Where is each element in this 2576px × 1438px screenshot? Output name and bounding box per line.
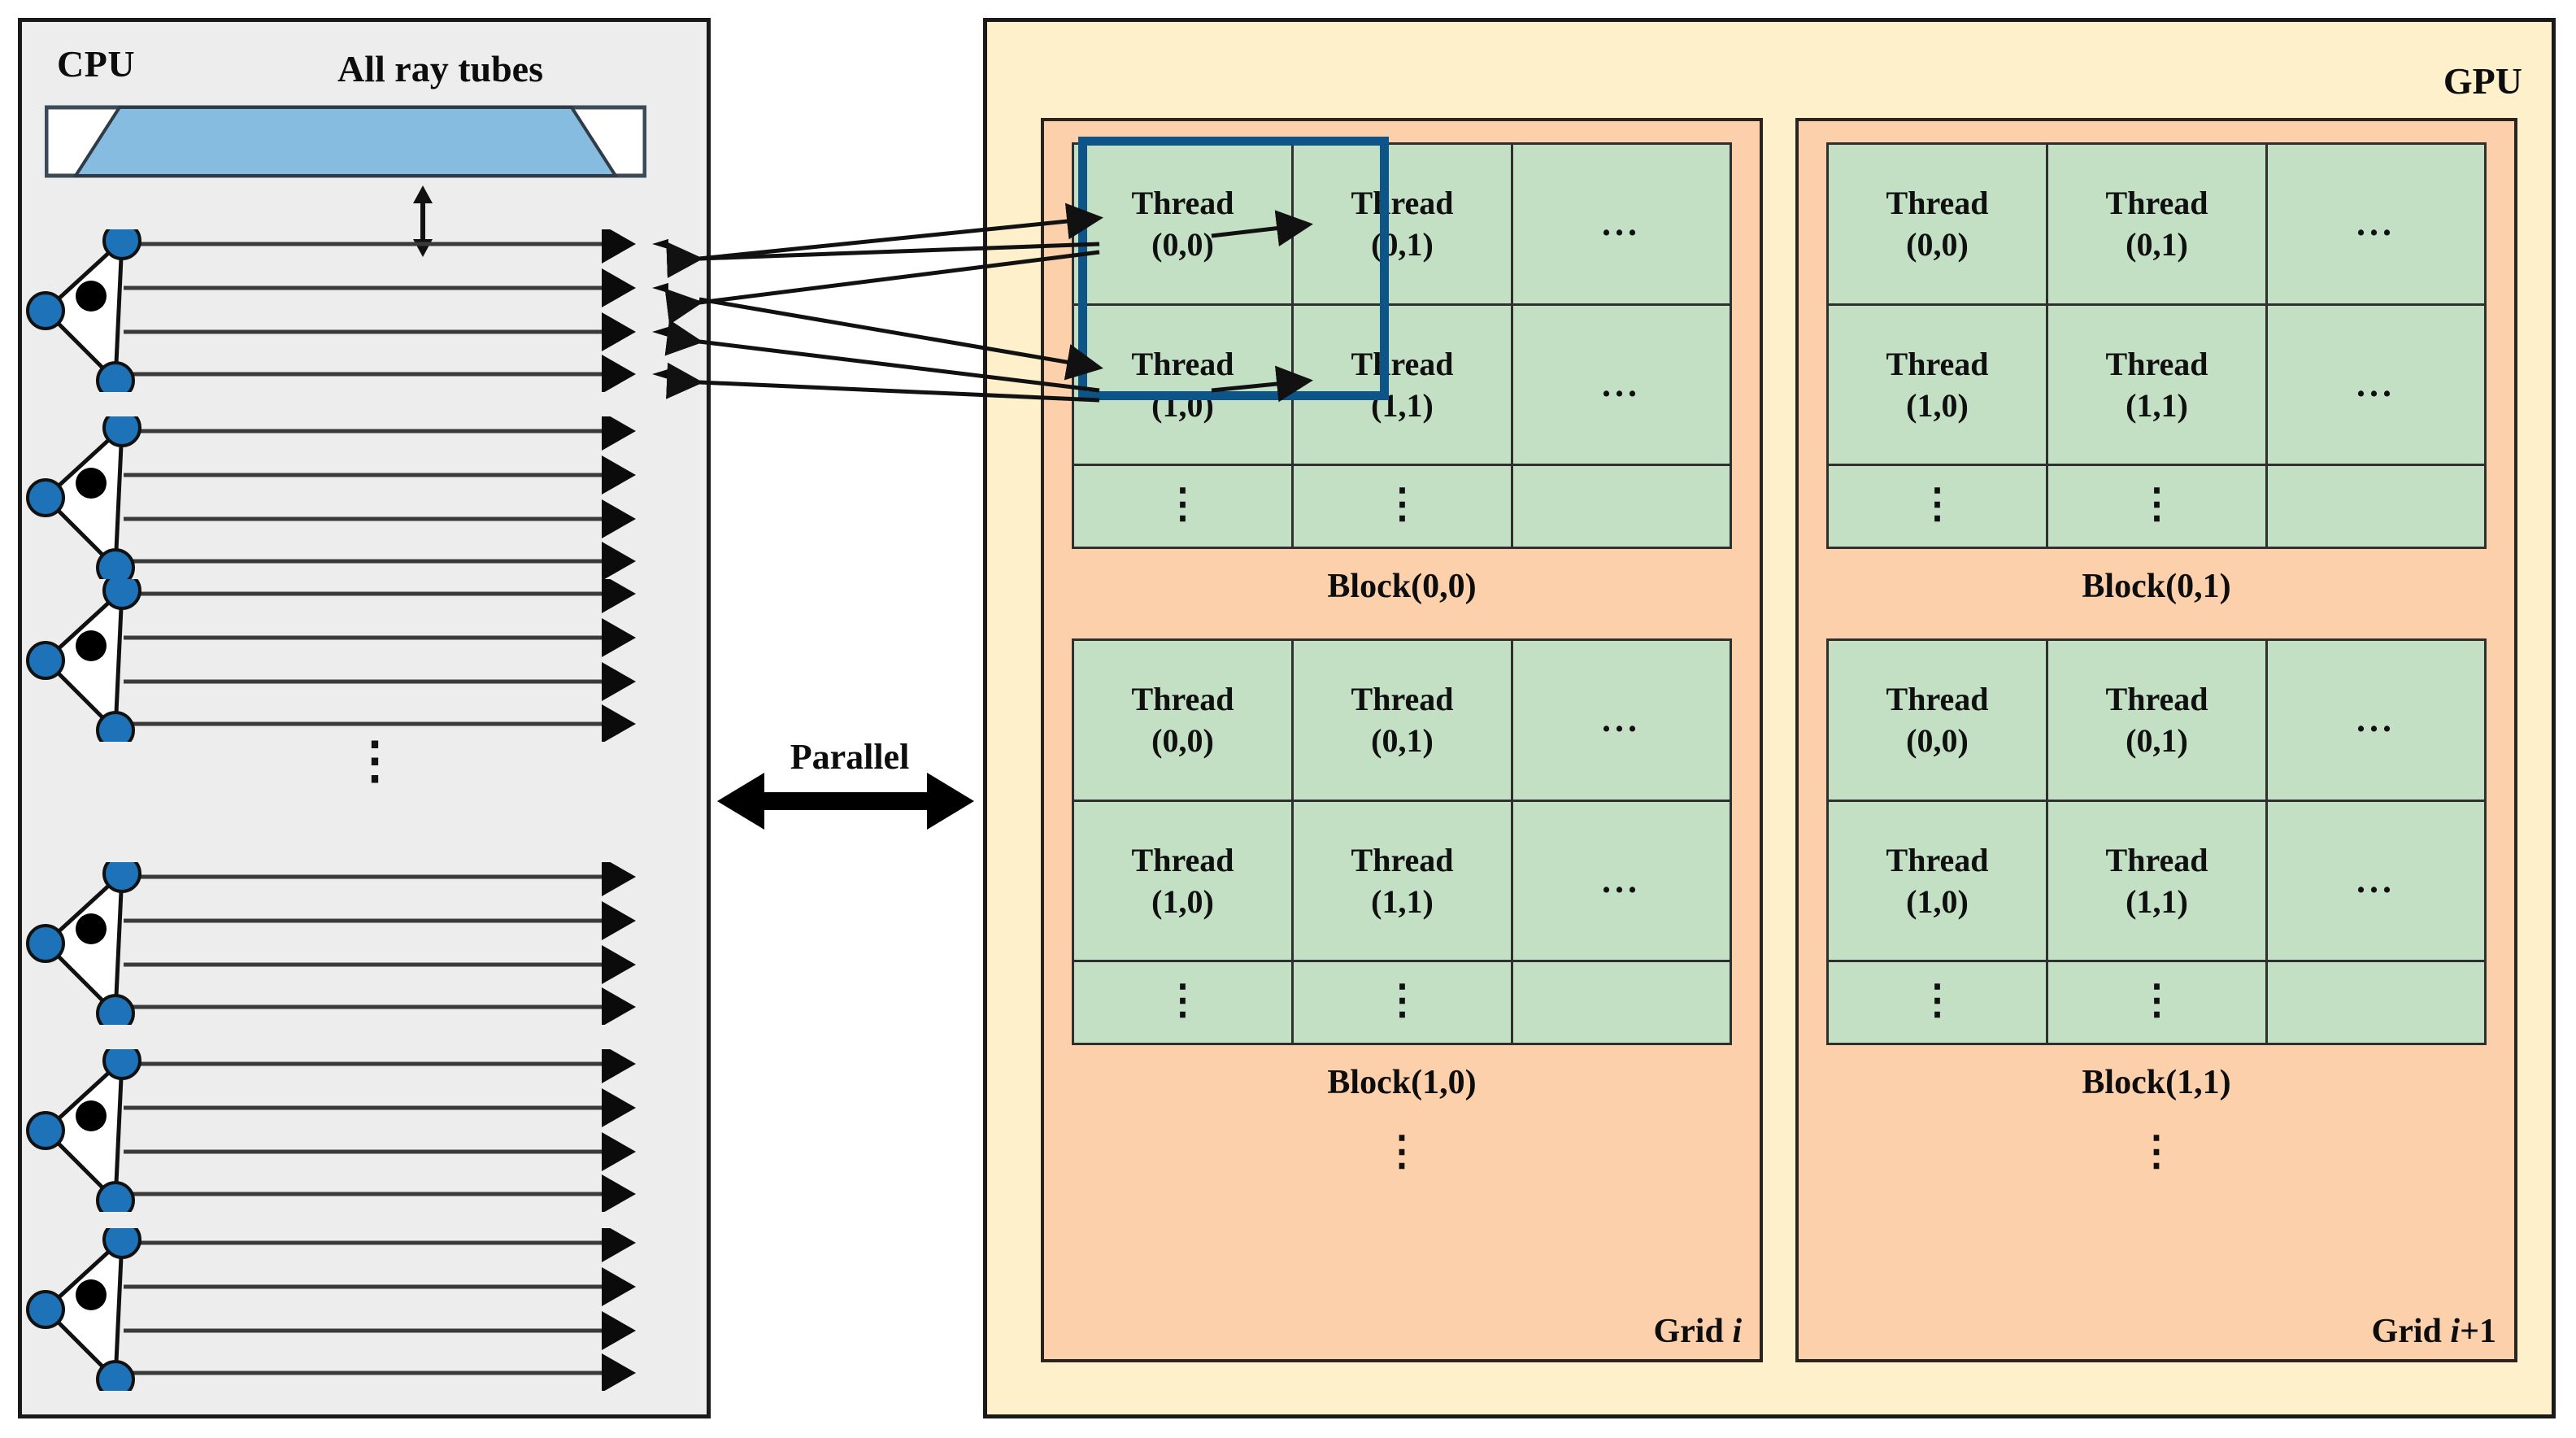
thread-cell-ellipsis: ⋮ [2047,465,2267,548]
thread-label: Thread [2048,678,2265,720]
vertical-ellipsis: ⋮ [1382,481,1423,526]
selected-thread-highlight [1078,137,1389,400]
thread-cell: Thread (1,0) [1828,304,2047,465]
thread-index: (1,1) [1294,881,1511,922]
table-row: Thread (0,0) Thread (0,1) ... [1828,640,2486,801]
thread-cell-ellipsis: ⋮ [1293,961,1512,1044]
table-row: ⋮ ⋮ [1073,465,1731,548]
table-row: ⋮ ⋮ [1073,961,1731,1044]
thread-index: (1,1) [2048,881,2265,922]
thread-cell: Thread (0,0) [1828,640,2047,801]
grid-label: Grid i+1 [2372,1312,2496,1351]
horizontal-ellipsis: ... [1602,861,1641,900]
table-row: Thread (0,0) Thread (0,1) ... [1073,640,1731,801]
thread-cell-blank [1512,465,1731,548]
block-label: Block(0,1) [1799,567,2514,606]
grid-i-plus-1: Thread (0,0) Thread (0,1) ... [1795,118,2517,1362]
block-vertical-ellipsis: ⋮ [1044,1141,1760,1161]
ray-tube-group [18,1228,668,1391]
thread-table: Thread (0,0) Thread (0,1) ... [1072,638,1732,1045]
table-row: ⋮ ⋮ [1828,961,2486,1044]
thread-index: (0,1) [2048,224,2265,265]
vertical-ellipsis: ⋮ [1163,481,1203,526]
vertical-ellipsis: ⋮ [1917,481,1958,526]
table-row: Thread (1,0) Thread (1,1) ... [1828,800,2486,961]
thread-cell: Thread (1,0) [1828,800,2047,961]
thread-cell-blank [1512,961,1731,1044]
thread-label: Thread [1829,182,2046,224]
thread-table: Thread (0,0) Thread (0,1) ... [1826,142,2487,549]
thread-label: Thread [1829,839,2046,881]
thread-label: Thread [2048,343,2265,385]
thread-cell-ellipsis: ⋮ [1073,465,1293,548]
thread-cell-ellipsis: ... [1512,800,1731,961]
block-label: Block(0,0) [1044,567,1760,606]
thread-table: Thread (0,0) Thread (0,1) ... [1826,638,2487,1045]
block-vertical-ellipsis: ⋮ [1799,1141,2514,1161]
thread-cell-ellipsis: ⋮ [1828,465,2047,548]
table-row: ⋮ ⋮ [1828,465,2486,548]
grid-label-index: i [1732,1313,1742,1350]
thread-cell-ellipsis: ... [1512,304,1731,465]
vertical-ellipsis: ⋮ [2137,481,2178,526]
block-0-1: Thread (0,0) Thread (0,1) ... [1799,142,2514,606]
thread-cell-ellipsis: ... [1512,640,1731,801]
ray-tube-group [18,862,668,1025]
cpu-vertical-ellipsis: ⋮ [350,748,400,774]
block-label: Block(1,0) [1044,1063,1760,1102]
thread-cell-ellipsis: ⋮ [2047,961,2267,1044]
grid-label-suffix: +1 [2460,1313,2496,1350]
grid-label: Grid i [1653,1312,1742,1351]
thread-index: (0,1) [2048,720,2265,761]
vertical-ellipsis: ⋮ [2137,977,2178,1022]
ray-tube-group [18,416,668,579]
thread-cell-ellipsis: ... [1512,144,1731,305]
block-label: Block(1,1) [1799,1063,2514,1102]
horizontal-ellipsis: ... [2356,203,2395,243]
thread-label: Thread [1294,678,1511,720]
thread-index: (0,0) [1829,720,2046,761]
thread-index: (0,1) [1294,720,1511,761]
thread-index: (1,0) [1829,385,2046,426]
thread-cell: Thread (1,1) [2047,304,2267,465]
thread-cell: Thread (0,1) [1293,640,1512,801]
all-ray-tubes-shape [45,104,646,179]
thread-cell-ellipsis: ... [2267,144,2486,305]
thread-cell: Thread (0,0) [1073,640,1293,801]
thread-cell-ellipsis: ... [2267,800,2486,961]
vertical-ellipsis: ⋮ [1382,977,1423,1022]
thread-index: (1,1) [2048,385,2265,426]
thread-index: (0,0) [1829,224,2046,265]
thread-label: Thread [1294,839,1511,881]
thread-cell: Thread (1,1) [1293,800,1512,961]
thread-cell: Thread (1,0) [1073,800,1293,961]
thread-cell: Thread (1,1) [2047,800,2267,961]
thread-cell-ellipsis: ⋮ [1828,961,2047,1044]
table-row: Thread (1,0) Thread (1,1) ... [1073,800,1731,961]
vertical-ellipsis: ⋮ [1163,977,1203,1022]
thread-label: Thread [1829,678,2046,720]
thread-cell-ellipsis: ⋮ [1293,465,1512,548]
ray-tube-group [18,579,668,742]
ray-tube-group [18,1049,668,1212]
thread-label: Thread [1829,343,2046,385]
thread-cell-ellipsis: ... [2267,640,2486,801]
grid-label-index: i [2450,1313,2460,1350]
table-row: Thread (1,0) Thread (1,1) ... [1828,304,2486,465]
thread-cell-ellipsis: ... [2267,304,2486,465]
thread-index: (1,0) [1074,881,1291,922]
parallel-double-arrow [716,732,976,870]
horizontal-ellipsis: ... [2356,861,2395,900]
horizontal-ellipsis: ... [1602,364,1641,404]
horizontal-ellipsis: ... [2356,364,2395,404]
ray-tube-group [18,229,668,392]
thread-label: Thread [1074,678,1291,720]
thread-index: (1,0) [1829,881,2046,922]
grid-label-prefix: Grid [2372,1313,2451,1350]
horizontal-ellipsis: ... [1602,203,1641,243]
table-row: Thread (0,0) Thread (0,1) ... [1828,144,2486,305]
thread-cell-ellipsis: ⋮ [1073,961,1293,1044]
horizontal-ellipsis: ... [1602,699,1641,739]
thread-index: (0,0) [1074,720,1291,761]
thread-label: Thread [2048,182,2265,224]
thread-cell: Thread (0,1) [2047,640,2267,801]
grid-label-prefix: Grid [1653,1313,1732,1350]
all-ray-tubes-label: All ray tubes [337,47,543,90]
gpu-title: GPU [2443,59,2522,102]
thread-label: Thread [1074,839,1291,881]
cpu-title: CPU [57,42,135,85]
thread-cell-blank [2267,465,2486,548]
thread-cell: Thread (0,1) [2047,144,2267,305]
thread-cell: Thread (0,0) [1828,144,2047,305]
block-1-1: Thread (0,0) Thread (0,1) ... [1799,638,2514,1161]
horizontal-ellipsis: ... [2356,699,2395,739]
vertical-ellipsis: ⋮ [1917,977,1958,1022]
thread-label: Thread [2048,839,2265,881]
block-1-0: Thread (0,0) Thread (0,1) ... [1044,638,1760,1161]
thread-cell-blank [2267,961,2486,1044]
